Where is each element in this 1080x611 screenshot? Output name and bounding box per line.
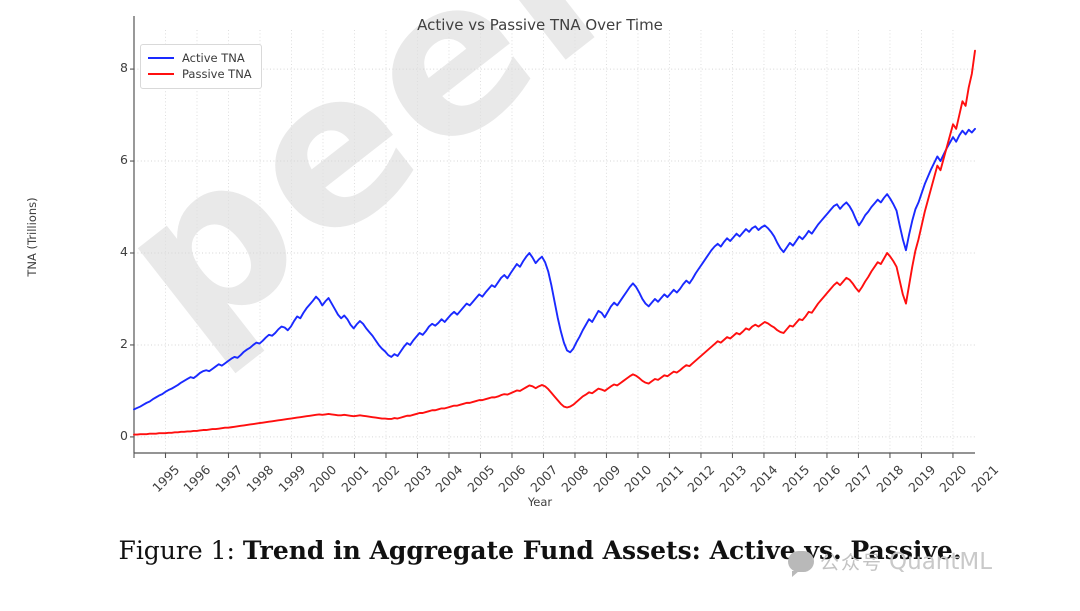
x-tick-label: 1995 [149, 462, 182, 495]
x-tick-label: 2008 [559, 462, 592, 495]
figure-container: Active vs Passive TNA Over Time 02468 19… [0, 0, 1080, 611]
x-tick-label: 2013 [716, 462, 749, 495]
x-tick-label: 2000 [307, 462, 340, 495]
x-tick-label: 1997 [212, 462, 245, 495]
x-tick-label: 2001 [338, 462, 371, 495]
x-tick-label: 2019 [905, 462, 938, 495]
x-tick-label: 2021 [968, 462, 1001, 495]
x-tick-label: 2020 [937, 462, 970, 495]
legend-label-active: Active TNA [182, 51, 245, 65]
legend-item-passive[interactable]: Passive TNA [148, 66, 252, 82]
x-tick-label: 2015 [779, 462, 812, 495]
x-tick-label: 2012 [685, 462, 718, 495]
x-tick-label: 1996 [181, 462, 214, 495]
caption-title: Trend in Aggregate Fund Assets: Active v… [243, 536, 962, 565]
caption-prefix: Figure 1: [118, 536, 234, 565]
legend-item-active[interactable]: Active TNA [148, 50, 252, 66]
x-tick-label: 2003 [401, 462, 434, 495]
legend-swatch-passive [148, 73, 174, 75]
x-tick-label: 1999 [275, 462, 308, 495]
legend-label-passive: Passive TNA [182, 67, 252, 81]
x-tick-label: 1998 [244, 462, 277, 495]
x-tick-label: 2006 [496, 462, 529, 495]
x-tick-label: 2007 [527, 462, 560, 495]
x-tick-label: 2018 [874, 462, 907, 495]
chart-legend: Active TNA Passive TNA [140, 44, 262, 89]
y-axis-label: TNA (Trillions) [25, 167, 39, 307]
x-tick-label: 2002 [370, 462, 403, 495]
x-axis-tick-labels: 1995199619971998199920002001200220032004… [0, 0, 1080, 611]
legend-swatch-active [148, 57, 174, 59]
figure-caption: Figure 1: Trend in Aggregate Fund Assets… [0, 536, 1080, 565]
x-axis-label: Year [0, 495, 1080, 509]
x-tick-label: 2010 [622, 462, 655, 495]
x-tick-label: 2017 [842, 462, 875, 495]
x-tick-label: 2016 [811, 462, 844, 495]
x-tick-label: 2004 [433, 462, 466, 495]
x-tick-label: 2009 [590, 462, 623, 495]
x-tick-label: 2005 [464, 462, 497, 495]
x-tick-label: 2011 [653, 462, 686, 495]
x-tick-label: 2014 [748, 462, 781, 495]
